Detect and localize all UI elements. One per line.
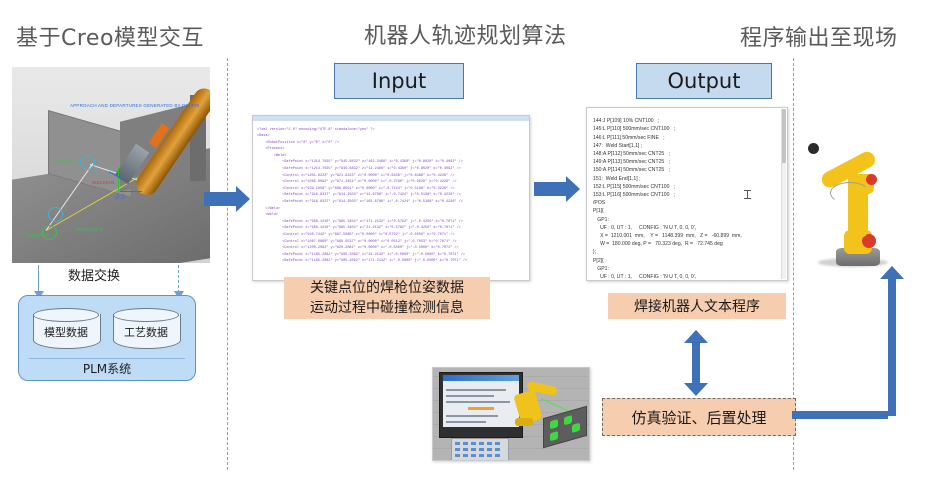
input-note-line-1: 关键点位的焊枪位姿数据 [310, 278, 464, 298]
cad-caption: APPROACH AND DEPARTURES GENERATED BY DEL… [70, 103, 200, 108]
industrial-robot-image [800, 130, 910, 280]
cad-label-zero: 0.0 [116, 195, 125, 201]
creo-cad-model-image: APPROACH AND DEPARTURES GENERATED BY DEL… [12, 67, 210, 263]
flow-arrow-program-simulation-bidirectional [684, 330, 708, 396]
arrow-head [236, 186, 250, 212]
robot-simulation-screenshot [432, 367, 590, 461]
robot-program-code-card[interactable]: 144:J P[109] 10% CNT100 ; 145:L P[110] 5… [586, 107, 788, 281]
data-exchange-label: 数据交换 [68, 265, 120, 284]
xml-code-text: <?xml version="1.0" encoding="UTF-8" sta… [257, 127, 527, 265]
program-scrollbar[interactable] [781, 109, 786, 279]
plm-title: PLM系统 [19, 360, 195, 377]
plm-system-panel: 模型数据 工艺数据 PLM系统 [18, 295, 196, 381]
pendant-keypad [451, 438, 509, 461]
arrow-head [566, 176, 580, 202]
scrollbar-thumb[interactable] [782, 109, 786, 163]
pendant-text-row [446, 395, 494, 397]
cad-label-weldrot: WELD/ROT [26, 233, 51, 238]
cad-point-marker-1 [80, 155, 95, 170]
data-exchange-arrow-down-solid [38, 265, 39, 293]
robot-program-text: 144:J P[109] 10% CNT100 ; 145:L P[110] 5… [593, 117, 785, 281]
pendant-text-row [446, 415, 498, 417]
robot-end-effector [808, 143, 819, 154]
database-label: 模型数据 [33, 324, 99, 340]
card-title-bar [253, 116, 529, 121]
cylinder-top [33, 308, 99, 322]
robot-cable [830, 182, 870, 204]
xml-input-code-card[interactable]: <?xml version="1.0" encoding="UTF-8" sta… [252, 115, 530, 281]
flow-arrow-to-robot [880, 266, 904, 416]
input-data-note: 关键点位的焊枪位姿数据 运动过程中碰撞检测信息 [284, 277, 490, 319]
arrow-shaft [204, 192, 236, 206]
cad-point-marker-2 [48, 207, 63, 222]
sim-robot-base [515, 418, 533, 426]
cad-label-surface2: SURFACE 2 [76, 227, 103, 232]
section-heading-right: 程序输出至现场 [740, 20, 898, 52]
teach-pendant-window [439, 372, 523, 438]
cylinder-top [113, 308, 179, 322]
section-heading-left: 基于Creo模型交互 [16, 20, 204, 52]
pendant-text-row [446, 389, 506, 391]
input-note-line-2: 运动过程中碰撞检测信息 [310, 298, 464, 318]
database-label: 工艺数据 [113, 324, 179, 340]
simulation-postprocess-note: 仿真验证、后置处理 [602, 398, 796, 436]
output-program-note: 焊接机器人文本程序 [608, 293, 786, 319]
pendant-text-row [446, 401, 510, 403]
arrow-shaft [888, 278, 896, 416]
database-process-data: 工艺数据 [113, 308, 179, 352]
cad-axis-x [120, 191, 142, 192]
database-model-data: 模型数据 [33, 308, 99, 352]
arrow-shaft [534, 182, 566, 196]
pendant-highlight [468, 407, 494, 410]
cad-axis-y [118, 167, 119, 191]
flow-arrow-xml-to-program [534, 176, 580, 202]
flow-arrow-cad-to-xml [204, 186, 250, 212]
output-label-box: Output [636, 63, 772, 99]
lane-divider-left [227, 58, 228, 470]
feedback-connector-line [792, 411, 888, 419]
arrow-head-down [684, 383, 708, 396]
input-label-box: Input [334, 63, 464, 99]
pendant-text-row [446, 421, 486, 423]
robot-motor-2 [866, 174, 877, 185]
cad-label-welding: WELDING [92, 180, 114, 185]
section-heading-middle: 机器人轨迹规划算法 [364, 18, 567, 50]
data-exchange-arrow-down-dashed [178, 265, 179, 293]
plm-divider [29, 358, 185, 359]
text-cursor-icon [747, 190, 748, 199]
cad-label-face1: FACE 1/0 [56, 159, 77, 164]
